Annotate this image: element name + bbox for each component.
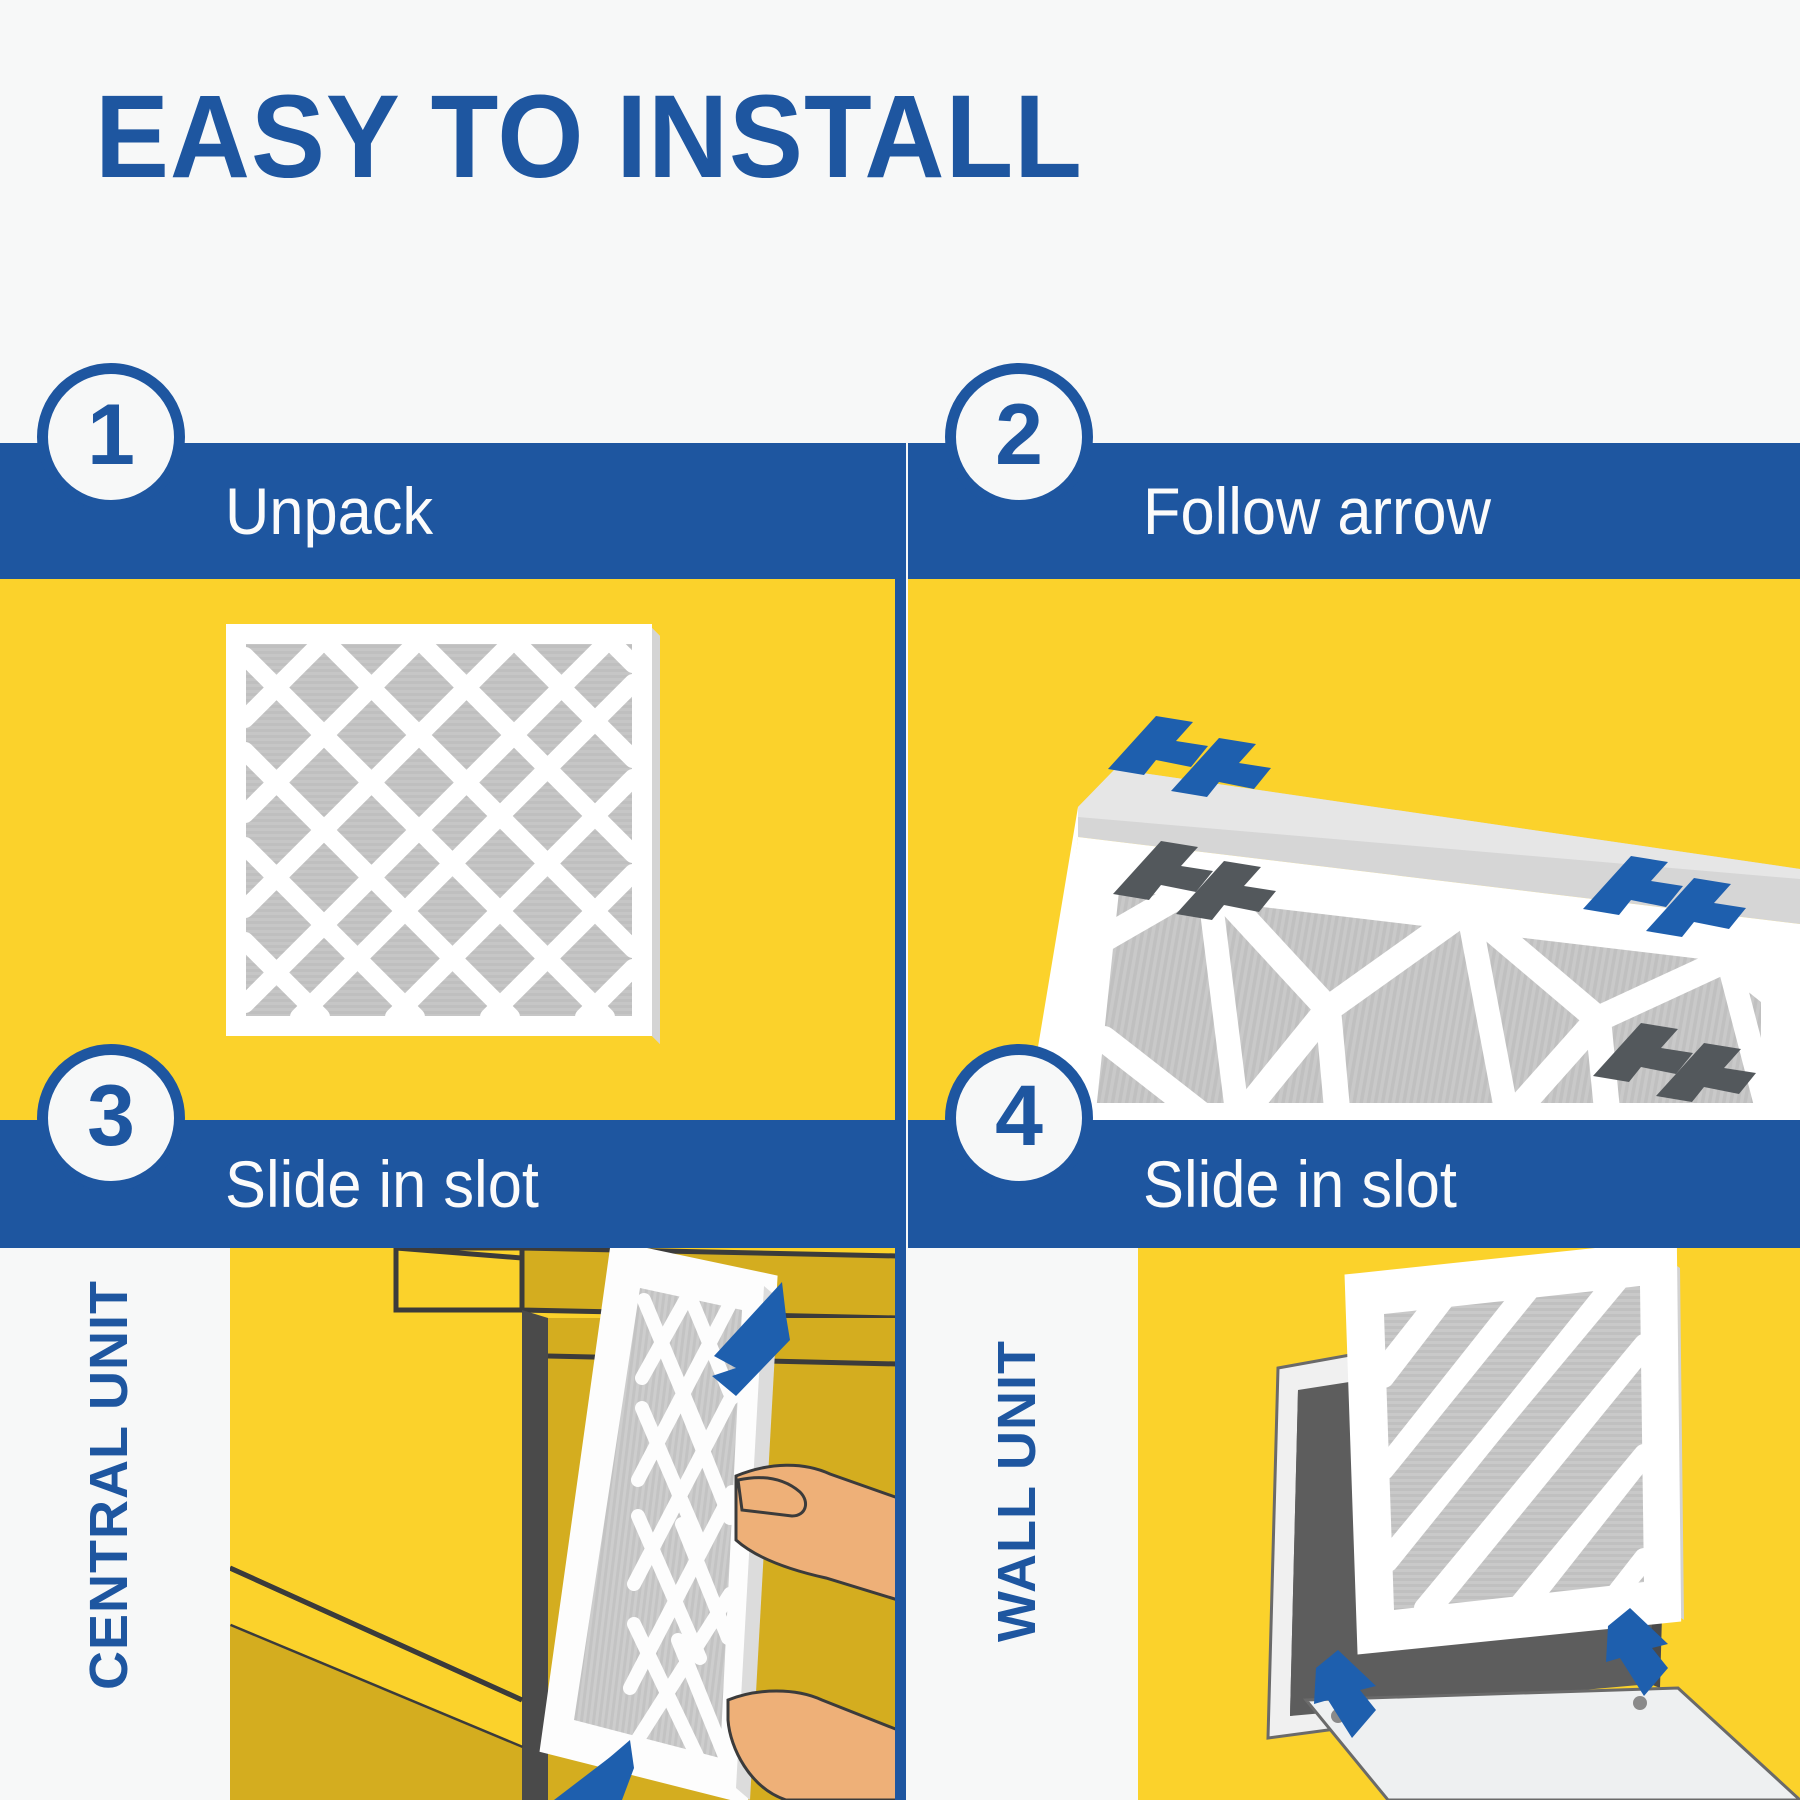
step-1-illustration [0,579,898,1120]
step-panel-2: Follow arrow 2 [908,443,1800,1120]
central-unit-filter-insert-illustration [230,1248,898,1800]
step-2-number: 2 [995,392,1043,478]
step-2-label: Follow arrow [1143,473,1491,549]
wall-filter [1360,1256,1684,1646]
step-3-label: Slide in slot [225,1146,539,1222]
step-3-number-badge: 3 [37,1044,185,1192]
step-3-number: 3 [87,1073,135,1159]
step-4-number: 4 [995,1073,1043,1159]
infographic-root: EASY TO INSTALL [0,0,1800,1800]
wall-unit-label: WALL UNIT [986,1340,1048,1642]
step-1-number: 1 [87,392,135,478]
step-1-number-badge: 1 [37,363,185,511]
panel-column-divider [895,443,906,1800]
tilted-air-filter-illustration [908,579,1800,1120]
central-unit-label: CENTRAL UNIT [78,1280,140,1690]
flat-air-filter-illustration [0,579,898,1120]
step-4-label: Slide in slot [1143,1146,1457,1222]
wall-unit-filter-insert-illustration [1138,1248,1800,1800]
step-3-scene [230,1248,898,1800]
step-2-number-badge: 2 [945,363,1093,511]
step-2-illustration [908,579,1800,1120]
step-panel-1: Unpack 1 [0,443,898,1120]
step-4-scene [1138,1248,1800,1800]
step-4-number-badge: 4 [945,1044,1093,1192]
step-1-label: Unpack [225,473,433,549]
page-title: EASY TO INSTALL [95,78,1083,196]
